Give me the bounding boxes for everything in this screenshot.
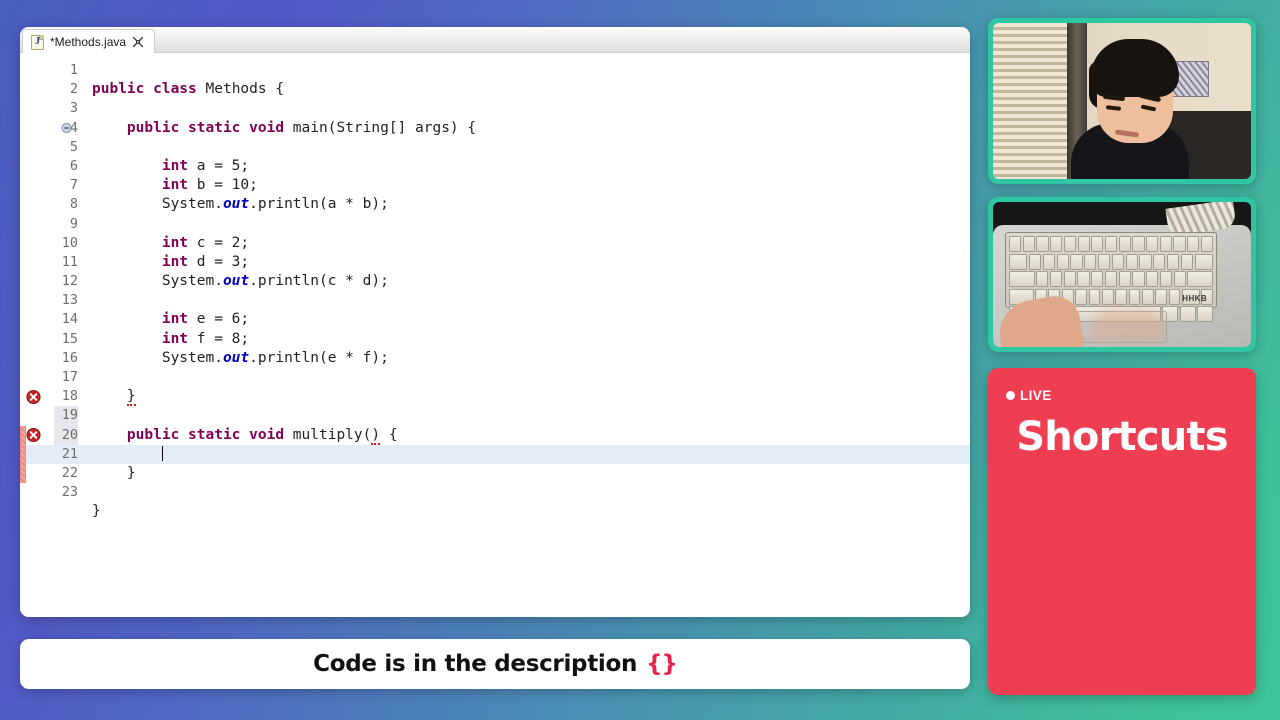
- code-line[interactable]: 2public class Methods {: [20, 80, 970, 99]
- line-number: 11: [20, 253, 78, 272]
- code-line-text: public class Methods {: [92, 80, 284, 99]
- banner-text: Code is in the description: [313, 651, 637, 677]
- line-number: 3: [20, 99, 78, 118]
- code-line-text: int f = 8;: [92, 330, 249, 349]
- webcam-keyboard-image: HHKB: [993, 202, 1251, 347]
- java-file-icon: J: [31, 35, 44, 50]
- keyboard-brand-label: HHKB: [1182, 294, 1207, 303]
- code-line[interactable]: 23: [20, 483, 970, 502]
- code-line-text: }: [92, 464, 136, 483]
- line-number: 20: [20, 426, 78, 445]
- code-line[interactable]: 17: [20, 368, 970, 387]
- line-number: 9: [20, 215, 78, 234]
- line-number: 18: [20, 387, 78, 406]
- code-line[interactable]: 19: [20, 406, 970, 425]
- live-label: LIVE: [1020, 388, 1052, 403]
- code-line[interactable]: 9: [20, 215, 970, 234]
- code-line-text: System.out.println(a * b);: [92, 195, 389, 214]
- shortcuts-title: Shortcuts: [1004, 414, 1240, 460]
- webcam-face-image: [993, 23, 1251, 179]
- banner-braces-icon: {}: [646, 651, 677, 677]
- code-line-text: int a = 5;: [92, 157, 249, 176]
- line-number: 6: [20, 157, 78, 176]
- editor-tab-title: *Methods.java: [50, 35, 126, 49]
- code-line[interactable]: 21: [20, 445, 970, 464]
- code-line-text: System.out.println(e * f);: [92, 349, 389, 368]
- line-number: 2: [20, 80, 78, 99]
- code-line[interactable]: 10 int c = 2;: [20, 234, 970, 253]
- line-number: 14: [20, 310, 78, 329]
- line-number: 15: [20, 330, 78, 349]
- code-line[interactable]: 7 int b = 10;: [20, 176, 970, 195]
- description-banner: Code is in the description {}: [20, 639, 970, 689]
- code-line[interactable]: 3: [20, 99, 970, 118]
- code-line[interactable]: 1: [20, 61, 970, 80]
- code-line[interactable]: 15 int f = 8;: [20, 330, 970, 349]
- text-caret: [162, 446, 163, 461]
- shortcuts-overlay-panel: LIVE Shortcuts: [988, 368, 1256, 695]
- code-line[interactable]: 12 System.out.println(c * d);: [20, 272, 970, 291]
- code-text-area[interactable]: 12public class Methods {34 public static…: [20, 53, 970, 617]
- line-number: 12: [20, 272, 78, 291]
- line-number: 7: [20, 176, 78, 195]
- code-line[interactable]: 18 }: [20, 387, 970, 406]
- editor-body[interactable]: 12public class Methods {34 public static…: [20, 53, 970, 617]
- code-editor-window: J *Methods.java 12public class Methods {…: [20, 27, 970, 617]
- line-number: 1: [20, 61, 78, 80]
- line-number: 8: [20, 195, 78, 214]
- code-line-text: public static void main(String[] args) {: [92, 119, 476, 138]
- code-line-text: int e = 6;: [92, 310, 249, 329]
- webcam-face-panel: [988, 18, 1256, 184]
- line-number: 10: [20, 234, 78, 253]
- live-badge: LIVE: [1006, 388, 1240, 403]
- code-line-text: public static void multiply() {: [92, 426, 398, 445]
- close-icon[interactable]: [132, 36, 144, 48]
- code-line[interactable]: 5: [20, 138, 970, 157]
- code-line[interactable]: 13: [20, 291, 970, 310]
- code-line-text: int d = 3;: [92, 253, 249, 272]
- code-line[interactable]: 4 public static void main(String[] args)…: [20, 119, 970, 138]
- code-line[interactable]: 20 public static void multiply() {: [20, 426, 970, 445]
- live-dot-icon: [1006, 391, 1015, 400]
- line-number: 21: [20, 445, 78, 464]
- code-line-text: }: [92, 502, 101, 521]
- code-line[interactable]: }: [20, 502, 970, 521]
- code-line[interactable]: 16 System.out.println(e * f);: [20, 349, 970, 368]
- code-line[interactable]: 11 int d = 3;: [20, 253, 970, 272]
- line-number: 5: [20, 138, 78, 157]
- editor-tab-bar: J *Methods.java: [20, 27, 970, 53]
- webcam-keyboard-panel: HHKB: [988, 197, 1256, 352]
- code-line[interactable]: 8 System.out.println(a * b);: [20, 195, 970, 214]
- line-number: 4: [20, 119, 78, 138]
- code-line-text: System.out.println(c * d);: [92, 272, 389, 291]
- line-number: 23: [20, 483, 78, 502]
- code-line-text: int b = 10;: [92, 176, 258, 195]
- code-line[interactable]: 22 }: [20, 464, 970, 483]
- code-line-text: [92, 445, 163, 464]
- editor-tab-methods-java[interactable]: J *Methods.java: [22, 29, 155, 54]
- line-number: 19: [20, 406, 78, 425]
- line-number: 16: [20, 349, 78, 368]
- code-line-text: }: [92, 387, 136, 406]
- window-blinds: [993, 23, 1073, 179]
- code-line[interactable]: 14 int e = 6;: [20, 310, 970, 329]
- line-number: 13: [20, 291, 78, 310]
- line-number: 22: [20, 464, 78, 483]
- code-line-text: int c = 2;: [92, 234, 249, 253]
- line-number: 17: [20, 368, 78, 387]
- code-line[interactable]: 6 int a = 5;: [20, 157, 970, 176]
